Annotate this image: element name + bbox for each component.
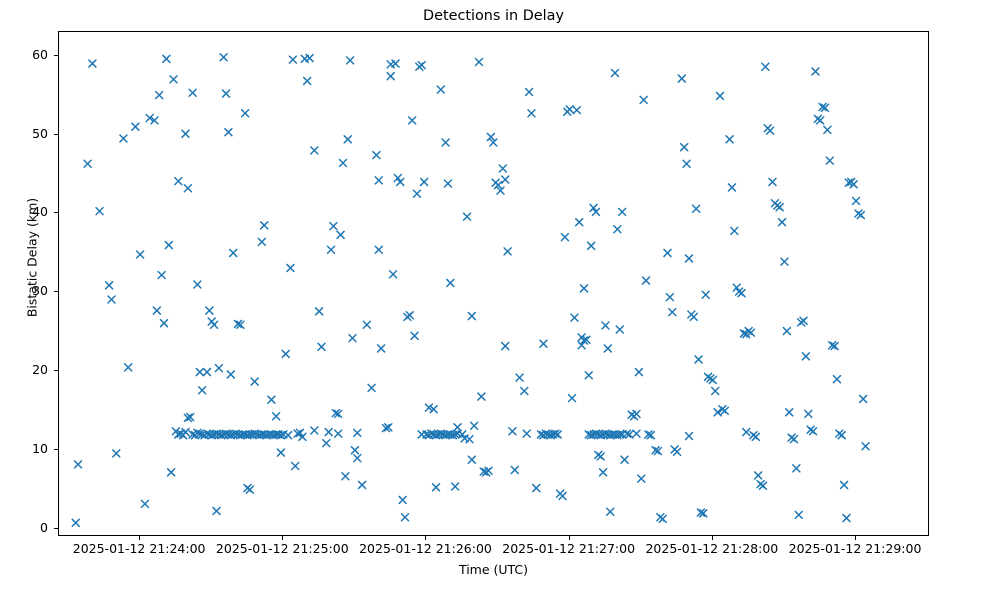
scatter-point <box>638 475 645 482</box>
scatter-point <box>158 272 165 279</box>
x-tick-label: 2025-01-12 21:27:00 <box>502 542 635 556</box>
scatter-point <box>812 68 819 75</box>
scatter-point <box>318 343 325 350</box>
y-tick-mark <box>54 134 58 135</box>
scatter-point <box>523 430 530 437</box>
scatter-point <box>246 486 253 493</box>
scatter-point <box>588 242 595 249</box>
scatter-point <box>504 248 511 255</box>
scatter-point <box>533 485 540 492</box>
scatter-point <box>421 178 428 185</box>
scatter-point <box>643 277 650 284</box>
scatter-point <box>860 395 867 402</box>
scatter-point <box>287 264 294 271</box>
scatter-point <box>106 282 113 289</box>
y-tick-mark <box>54 528 58 529</box>
scatter-point <box>354 455 361 462</box>
scatter-point <box>261 222 268 229</box>
scatter-point <box>344 136 351 143</box>
scatter-point <box>717 92 724 99</box>
scatter-point <box>311 427 318 434</box>
plot-area <box>58 31 929 536</box>
scatter-point <box>666 294 673 301</box>
scatter-point <box>213 507 220 514</box>
scatter-point <box>215 365 222 372</box>
scatter-point <box>659 515 666 522</box>
scatter-point <box>444 180 451 187</box>
scatter-point <box>600 469 607 476</box>
scatter-point <box>509 428 516 435</box>
scatter-point <box>289 56 296 63</box>
scatter-point <box>805 410 812 417</box>
scatter-point <box>752 433 759 440</box>
scatter-point <box>475 58 482 65</box>
scatter-point <box>433 484 440 491</box>
scatter-point <box>759 482 766 489</box>
scatter-point <box>153 307 160 314</box>
scatter-point <box>442 139 449 146</box>
scatter-point <box>392 60 399 67</box>
scatter-series <box>59 32 929 536</box>
scatter-point <box>418 431 425 438</box>
scatter-point <box>619 208 626 215</box>
scatter-point <box>838 432 845 439</box>
scatter-point <box>824 126 831 133</box>
scatter-point <box>203 369 210 376</box>
scatter-point <box>413 190 420 197</box>
scatter-point <box>683 160 690 167</box>
scatter-point <box>258 238 265 245</box>
scatter-point <box>690 313 697 320</box>
scatter-point <box>96 208 103 215</box>
scatter-point <box>89 60 96 67</box>
scatter-point <box>273 413 280 420</box>
scatter-point <box>375 246 382 253</box>
scatter-point <box>418 62 425 69</box>
scatter-point <box>576 219 583 226</box>
scatter-point <box>387 73 394 80</box>
scatter-point <box>795 511 802 518</box>
scatter-point <box>75 461 82 468</box>
scatter-point <box>635 369 642 376</box>
x-tick-label: 2025-01-12 21:26:00 <box>359 542 492 556</box>
scatter-point <box>373 152 380 159</box>
x-tick-mark <box>569 536 570 540</box>
x-tick-mark <box>425 536 426 540</box>
scatter-point <box>685 255 692 262</box>
scatter-point <box>786 409 793 416</box>
scatter-point <box>311 147 318 154</box>
scatter-point <box>726 136 733 143</box>
scatter-point <box>817 117 824 124</box>
scatter-point <box>452 483 459 490</box>
scatter-point <box>108 296 115 303</box>
scatter-point <box>368 384 375 391</box>
scatter-point <box>833 376 840 383</box>
scatter-point <box>790 436 797 443</box>
x-tick-label: 2025-01-12 21:24:00 <box>73 542 206 556</box>
scatter-point <box>349 335 356 342</box>
scatter-point <box>862 443 869 450</box>
scatter-point <box>342 473 349 480</box>
scatter-point <box>351 447 358 454</box>
scatter-point <box>137 251 144 258</box>
scatter-point <box>447 279 454 286</box>
scatter-point <box>607 508 614 515</box>
scatter-point <box>354 429 361 436</box>
scatter-point <box>464 213 471 220</box>
scatter-point <box>399 496 406 503</box>
scatter-point <box>184 185 191 192</box>
y-axis-label: Bistatic Delay (km) <box>25 108 40 408</box>
scatter-point <box>277 449 284 456</box>
scatter-point <box>359 481 366 488</box>
scatter-point <box>292 462 299 469</box>
y-tick-mark <box>54 212 58 213</box>
scatter-point <box>165 242 172 249</box>
scatter-point <box>674 448 681 455</box>
scatter-point <box>306 55 313 62</box>
scatter-point <box>633 430 640 437</box>
scatter-point <box>810 428 817 435</box>
scatter-point <box>268 396 275 403</box>
scatter-point <box>199 387 206 394</box>
x-tick-label: 2025-01-12 21:29:00 <box>789 542 922 556</box>
scatter-point <box>304 77 311 84</box>
scatter-point <box>685 433 692 440</box>
x-tick-label: 2025-01-12 21:28:00 <box>645 542 778 556</box>
scatter-point <box>571 314 578 321</box>
x-tick-mark <box>855 536 856 540</box>
scatter-point <box>330 223 337 230</box>
scatter-point <box>347 57 354 64</box>
scatter-point <box>454 424 461 431</box>
scatter-point <box>325 429 332 436</box>
scatter-point <box>206 307 213 314</box>
scatter-point <box>196 369 203 376</box>
scatter-point <box>516 374 523 381</box>
scatter-point <box>702 291 709 298</box>
scatter-point <box>282 350 289 357</box>
scatter-point <box>194 281 201 288</box>
scatter-point <box>857 212 864 219</box>
scatter-point <box>223 90 230 97</box>
scatter-point <box>604 345 611 352</box>
scatter-point <box>511 466 518 473</box>
scatter-point <box>72 519 79 526</box>
scatter-point <box>168 469 175 476</box>
scatter-point <box>230 249 237 256</box>
x-tick-mark <box>139 536 140 540</box>
chart-title: Detections in Delay <box>0 8 987 24</box>
scatter-point <box>120 135 127 142</box>
y-tick-mark <box>54 291 58 292</box>
scatter-point <box>573 107 580 114</box>
scatter-point <box>783 328 790 335</box>
scatter-point <box>669 309 676 316</box>
scatter-point <box>843 515 850 522</box>
scatter-point <box>633 410 640 417</box>
scatter-point <box>566 106 573 113</box>
scatter-point <box>84 160 91 167</box>
scatter-point <box>406 312 413 319</box>
scatter-point <box>402 514 409 521</box>
scatter-point <box>681 144 688 151</box>
scatter-point <box>580 285 587 292</box>
scatter-point <box>664 249 671 256</box>
matplotlib-figure: Detections in Delay 2025-01-12 21:24:002… <box>0 0 987 590</box>
scatter-point <box>826 157 833 164</box>
scatter-point <box>585 372 592 379</box>
scatter-point <box>160 320 167 327</box>
x-tick-label: 2025-01-12 21:25:00 <box>216 542 349 556</box>
scatter-point <box>721 407 728 414</box>
scatter-point <box>363 321 370 328</box>
scatter-point <box>141 500 148 507</box>
scatter-point <box>802 353 809 360</box>
scatter-point <box>227 371 234 378</box>
scatter-point <box>390 271 397 278</box>
scatter-point <box>762 63 769 70</box>
scatter-point <box>521 388 528 395</box>
y-tick-mark <box>54 55 58 56</box>
scatter-point <box>781 258 788 265</box>
scatter-point <box>614 226 621 233</box>
scatter-point <box>695 356 702 363</box>
scatter-point <box>220 54 227 61</box>
scatter-point <box>793 465 800 472</box>
scatter-point <box>767 127 774 134</box>
scatter-point <box>468 313 475 320</box>
scatter-point <box>182 130 189 137</box>
scatter-point <box>569 395 576 402</box>
scatter-point <box>189 89 196 96</box>
scatter-point <box>528 110 535 117</box>
y-tick-mark <box>54 370 58 371</box>
y-tick-mark <box>54 449 58 450</box>
scatter-point <box>225 129 232 136</box>
scatter-point <box>485 467 492 474</box>
scatter-point <box>693 205 700 212</box>
scatter-point <box>559 492 566 499</box>
scatter-point <box>337 231 344 238</box>
scatter-point <box>640 96 647 103</box>
scatter-point <box>156 92 163 99</box>
scatter-point <box>175 178 182 185</box>
scatter-point <box>776 204 783 211</box>
scatter-point <box>437 86 444 93</box>
scatter-point <box>328 246 335 253</box>
scatter-point <box>502 176 509 183</box>
scatter-point <box>468 456 475 463</box>
x-tick-mark <box>282 536 283 540</box>
scatter-point <box>132 123 139 130</box>
scatter-point <box>800 317 807 324</box>
scatter-point <box>316 308 323 315</box>
scatter-point <box>478 393 485 400</box>
scatter-point <box>738 290 745 297</box>
scatter-point <box>602 322 609 329</box>
scatter-point <box>597 453 604 460</box>
scatter-point <box>378 345 385 352</box>
scatter-point <box>285 432 292 439</box>
scatter-point <box>502 343 509 350</box>
scatter-point <box>339 159 346 166</box>
scatter-point <box>526 88 533 95</box>
scatter-point <box>561 234 568 241</box>
scatter-point <box>323 440 330 447</box>
scatter-point <box>540 340 547 347</box>
scatter-point <box>471 422 478 429</box>
x-axis-label: Time (UTC) <box>58 562 929 577</box>
y-tick-label: 10 <box>0 442 48 456</box>
scatter-point <box>411 332 418 339</box>
x-tick-mark <box>712 536 713 540</box>
scatter-point <box>731 227 738 234</box>
scatter-point <box>170 76 177 83</box>
scatter-point <box>125 364 132 371</box>
scatter-point <box>211 321 218 328</box>
y-tick-label: 60 <box>0 48 48 62</box>
y-tick-label: 0 <box>0 521 48 535</box>
scatter-point <box>612 70 619 77</box>
scatter-point <box>841 481 848 488</box>
scatter-point <box>242 110 249 117</box>
scatter-point <box>853 197 860 204</box>
scatter-point <box>712 388 719 395</box>
scatter-point <box>621 456 628 463</box>
scatter-point <box>743 429 750 436</box>
scatter-point <box>499 165 506 172</box>
scatter-point <box>113 450 120 457</box>
scatter-point <box>163 55 170 62</box>
scatter-point <box>335 430 342 437</box>
scatter-point <box>755 472 762 479</box>
scatter-point <box>251 378 258 385</box>
scatter-point <box>466 436 473 443</box>
scatter-point <box>728 184 735 191</box>
scatter-point <box>779 219 786 226</box>
scatter-point <box>616 326 623 333</box>
scatter-point <box>375 177 382 184</box>
scatter-point <box>409 117 416 124</box>
scatter-point <box>678 75 685 82</box>
scatter-point <box>769 178 776 185</box>
